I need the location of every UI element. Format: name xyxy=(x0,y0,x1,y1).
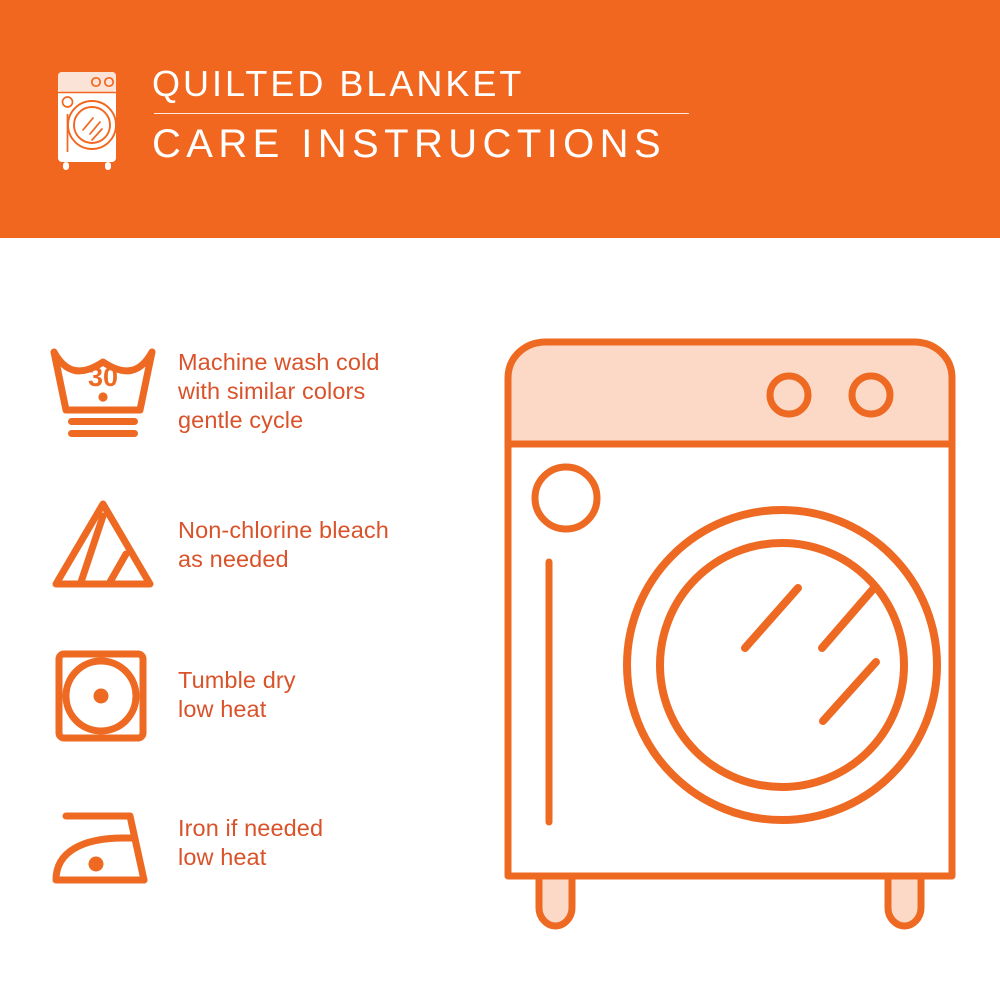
front-load-washing-machine-illustration xyxy=(492,330,968,940)
tumble-dry-icon-wrap xyxy=(48,640,172,744)
low-heat-dot xyxy=(94,689,109,704)
header-content: QUILTED BLANKET CARE INSTRUCTIONS xyxy=(48,62,689,172)
washing-machine-icon xyxy=(48,68,124,172)
bleach-triangle-icon-wrap xyxy=(48,490,172,592)
wash-temperature-value: 30 xyxy=(88,362,118,392)
header-banner: QUILTED BLANKET CARE INSTRUCTIONS xyxy=(0,0,1000,238)
page-title-secondary: CARE INSTRUCTIONS xyxy=(152,120,689,168)
care-instructions-page: QUILTED BLANKET CARE INSTRUCTIONS 30 Mac… xyxy=(0,0,1000,1000)
title-divider xyxy=(154,113,689,114)
list-item-label: Iron if needed low heat xyxy=(172,790,323,872)
foot-left xyxy=(539,876,572,926)
list-item: 30 Machine wash cold with similar colors… xyxy=(48,340,478,490)
list-item-label: Tumble dry low heat xyxy=(172,640,296,724)
list-item: Iron if needed low heat xyxy=(48,790,478,940)
gentle-cycle-dot xyxy=(98,392,107,401)
wash-tub-icon: 30 xyxy=(48,340,158,444)
tumble-dry-icon xyxy=(48,648,158,744)
list-item-label: Machine wash cold with similar colors ge… xyxy=(172,340,380,435)
foot-right xyxy=(888,876,921,926)
care-instruction-list: 30 Machine wash cold with similar colors… xyxy=(48,340,478,940)
bleach-triangle-icon xyxy=(48,496,158,592)
wash-bar-top xyxy=(68,418,138,425)
control-panel xyxy=(508,342,952,444)
wash-tub-icon-wrap: 30 xyxy=(48,340,172,444)
low-heat-dot xyxy=(89,857,104,872)
iron-icon xyxy=(48,804,166,890)
header-titles: QUILTED BLANKET CARE INSTRUCTIONS xyxy=(152,62,689,168)
list-item-label: Non-chlorine bleach as needed xyxy=(172,490,389,574)
wash-bar-bottom xyxy=(68,430,138,437)
page-title-primary: QUILTED BLANKET xyxy=(152,62,689,106)
iron-icon-wrap xyxy=(48,790,172,890)
list-item: Non-chlorine bleach as needed xyxy=(48,490,478,640)
list-item: Tumble dry low heat xyxy=(48,640,478,790)
